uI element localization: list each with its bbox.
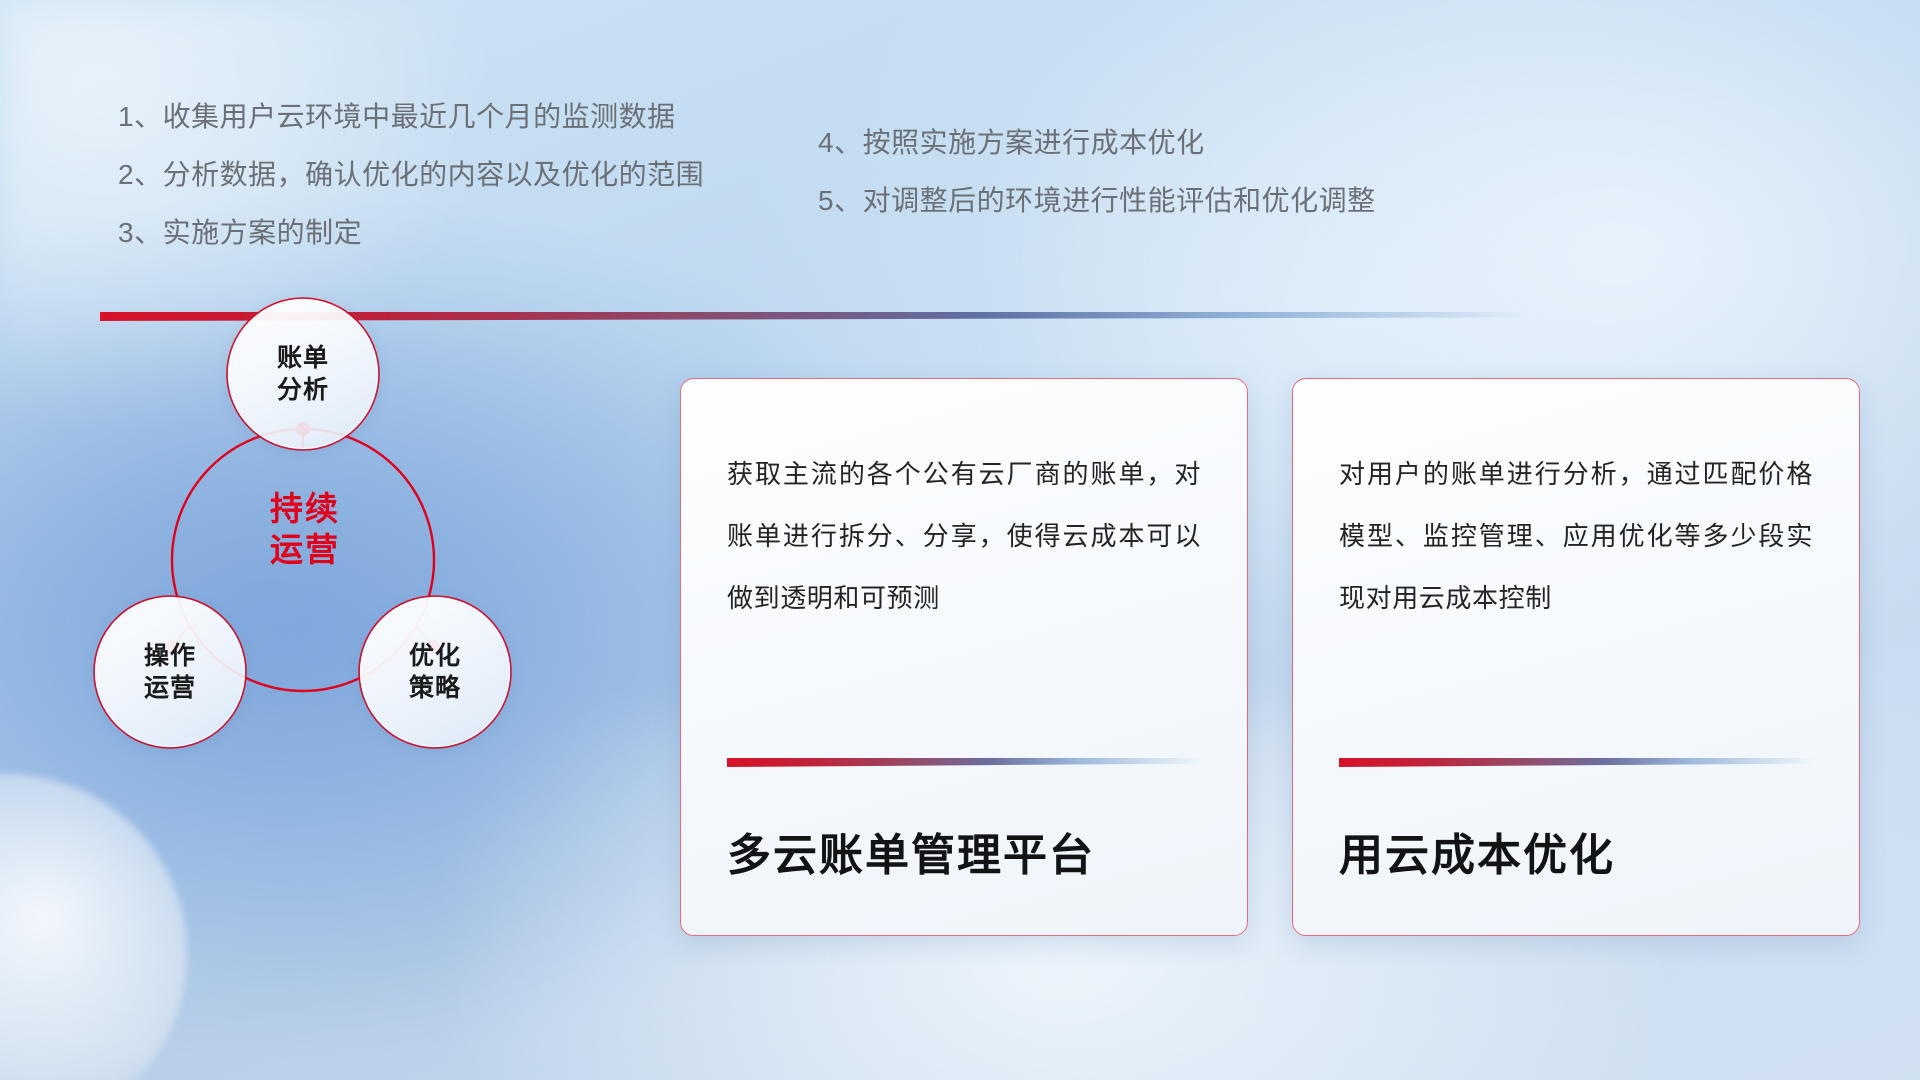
bubble-bill-analysis-line2: 分析 (277, 374, 329, 406)
card-body-text: 对用户的账单进行分析，通过匹配价格模型、监控管理、应用优化等多少段实现对用云成本… (1339, 443, 1813, 629)
card-divider (727, 758, 1201, 767)
diagram-center-label: 持续 运营 (225, 488, 385, 571)
steps-column-right: 4、按照实施方案进行成本优化 5、对调整后的环境进行性能评估和优化调整 (818, 96, 1478, 254)
bubble-ops-operation-line2: 运营 (144, 672, 196, 704)
steps-column-left: 1、收集用户云环境中最近几个月的监测数据 2、分析数据，确认优化的内容以及优化的… (118, 96, 818, 254)
diagram-center-label-line2: 运营 (225, 529, 385, 570)
card-title: 多云账单管理平台 (727, 819, 1201, 883)
bubble-optimization-strategy-line2: 策略 (409, 672, 461, 704)
diagram-center-label-line1: 持续 (225, 488, 385, 529)
bubble-ops-operation[interactable]: 操作 运营 (95, 597, 245, 747)
continuous-operation-diagram: 账单 分析 操作 运营 优化 策略 持续 运营 (95, 345, 565, 775)
card-cloud-cost-optimization[interactable]: 对用户的账单进行分析，通过匹配价格模型、监控管理、应用优化等多少段实现对用云成本… (1292, 378, 1860, 936)
step-item-1: 1、收集用户云环境中最近几个月的监测数据 (118, 96, 818, 138)
step-item-2: 2、分析数据，确认优化的内容以及优化的范围 (118, 154, 818, 196)
bubble-ops-operation-line1: 操作 (144, 640, 196, 672)
card-divider (1339, 758, 1813, 767)
steps-list: 1、收集用户云环境中最近几个月的监测数据 2、分析数据，确认优化的内容以及优化的… (118, 96, 1498, 254)
bubble-bill-analysis[interactable]: 账单 分析 (228, 299, 378, 449)
card-body-text: 获取主流的各个公有云厂商的账单，对账单进行拆分、分享，使得云成本可以做到透明和可… (727, 443, 1201, 629)
bubble-optimization-strategy[interactable]: 优化 策略 (360, 597, 510, 747)
card-title: 用云成本优化 (1339, 819, 1813, 883)
step-item-3: 3、实施方案的制定 (118, 212, 818, 254)
bubble-bill-analysis-line1: 账单 (277, 342, 329, 374)
card-multi-cloud-billing-platform[interactable]: 获取主流的各个公有云厂商的账单，对账单进行拆分、分享，使得云成本可以做到透明和可… (680, 378, 1248, 936)
bubble-optimization-strategy-line1: 优化 (409, 640, 461, 672)
step-item-4: 4、按照实施方案进行成本优化 (818, 122, 1478, 164)
step-item-5: 5、对调整后的环境进行性能评估和优化调整 (818, 180, 1478, 222)
